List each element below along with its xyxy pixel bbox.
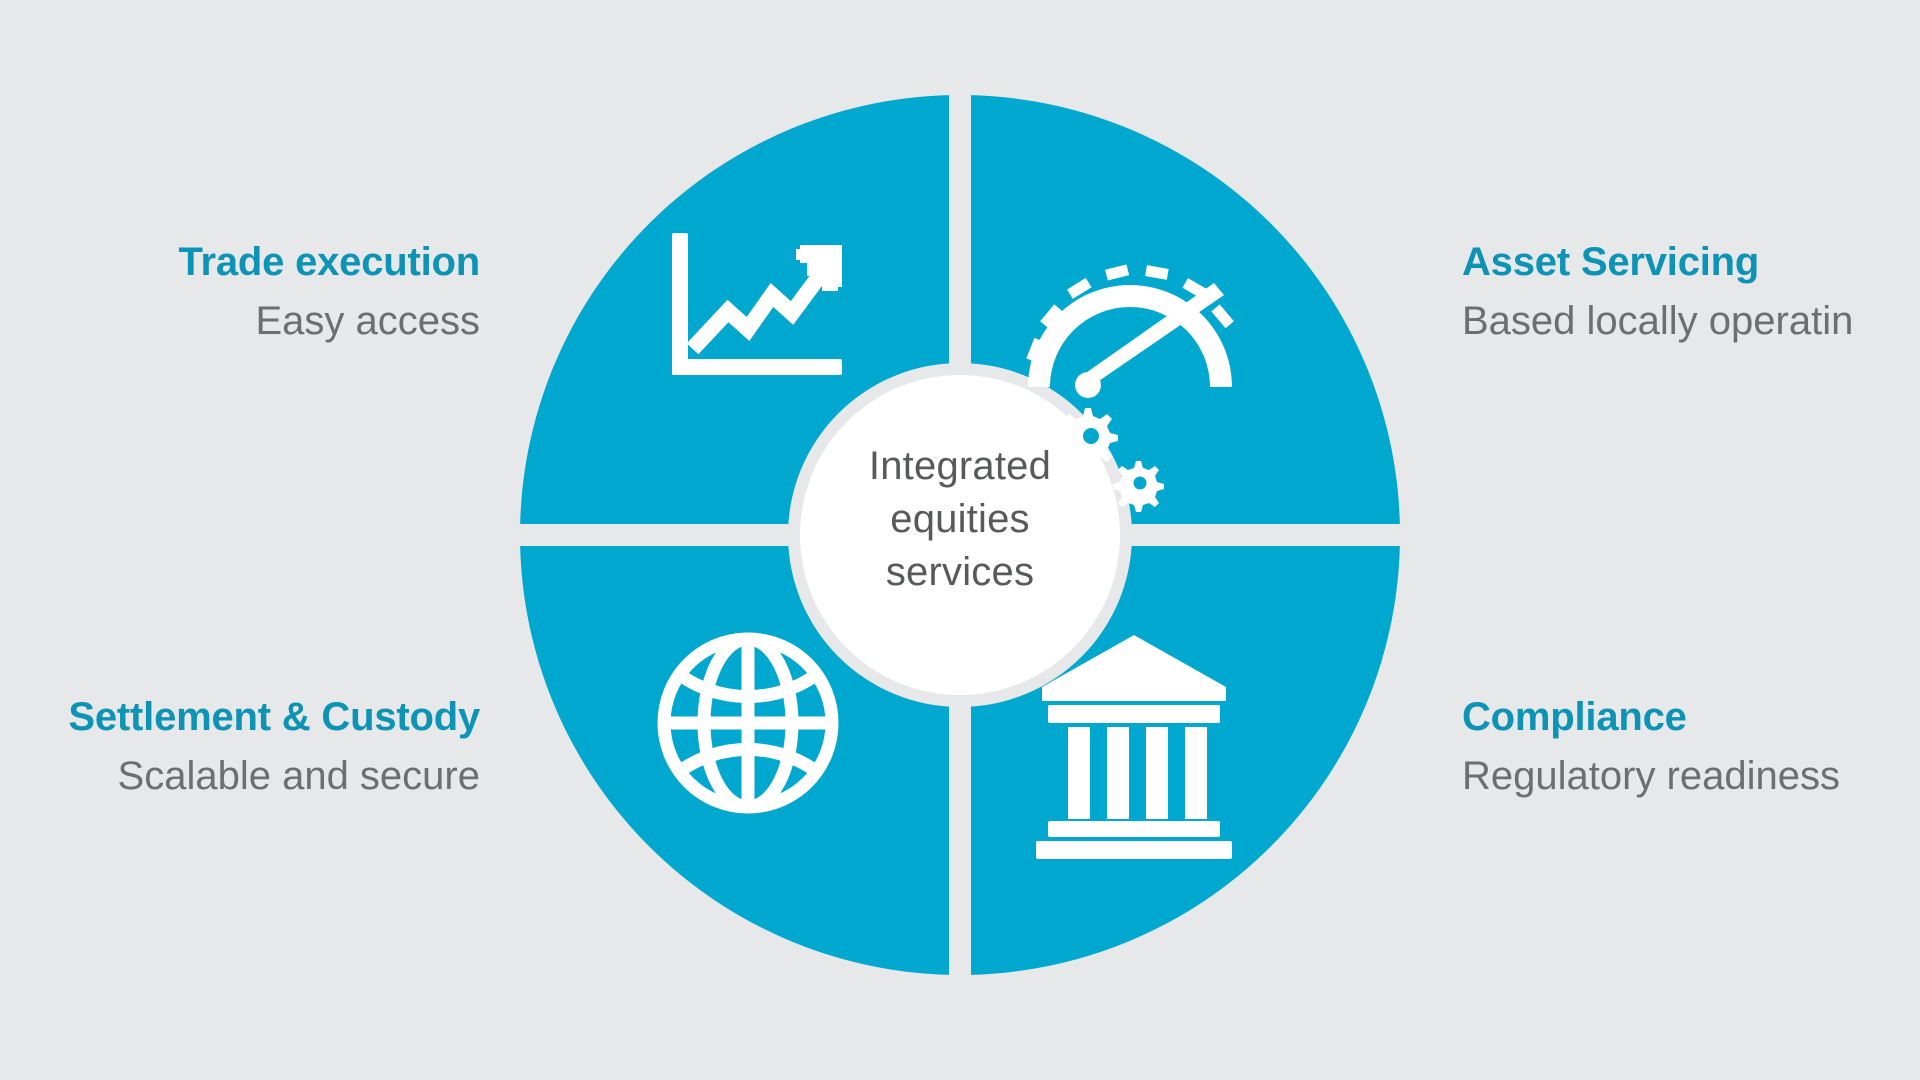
infographic-canvas: Integrated equities services Trade execu… — [0, 0, 1920, 1080]
label-subtitle-settlement-custody: Scalable and secure — [68, 754, 480, 799]
label-title-compliance: Compliance — [1462, 695, 1840, 740]
label-block-asset-servicing: Asset Servicing Based locally operatin — [1462, 240, 1853, 344]
label-block-settlement-custody: Settlement & Custody Scalable and secure — [68, 695, 480, 799]
label-subtitle-asset-servicing: Based locally operatin — [1462, 299, 1853, 344]
label-block-trade-execution: Trade execution Easy access — [178, 240, 480, 344]
label-title-settlement-custody: Settlement & Custody — [68, 695, 480, 740]
label-title-trade-execution: Trade execution — [178, 240, 480, 285]
quadrant-donut-chart — [520, 95, 1400, 975]
label-subtitle-trade-execution: Easy access — [178, 299, 480, 344]
globe-icon — [664, 639, 832, 807]
label-block-compliance: Compliance Regulatory readiness — [1462, 695, 1840, 799]
label-title-asset-servicing: Asset Servicing — [1462, 240, 1853, 285]
label-subtitle-compliance: Regulatory readiness — [1462, 754, 1840, 799]
